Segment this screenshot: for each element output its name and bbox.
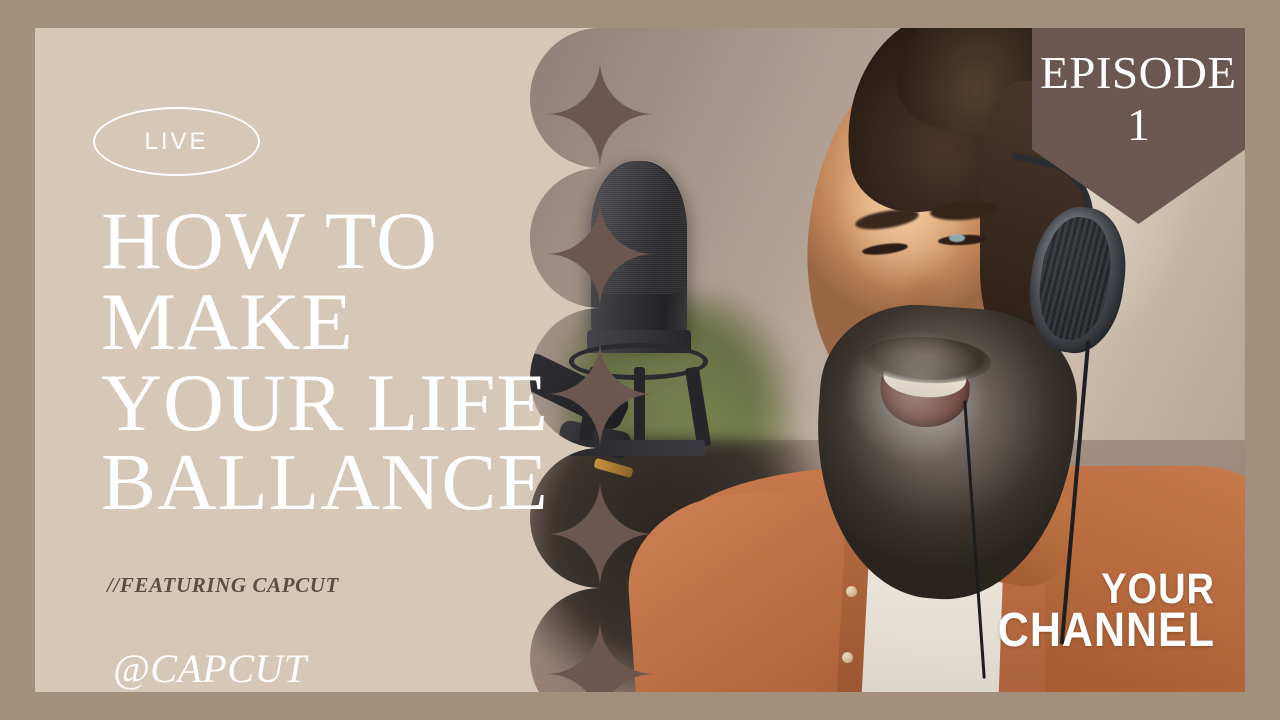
episode-label: EPISODE xyxy=(1040,50,1236,96)
shirt-button-lower xyxy=(842,652,853,663)
live-badge-label: LIVE xyxy=(144,128,208,156)
live-badge[interactable]: LIVE xyxy=(93,107,260,176)
title-line-1: HOW TO xyxy=(101,200,544,281)
artboard: LIVE HOW TO MAKE YOUR LIFE BALLANCE //FE… xyxy=(35,28,1245,692)
title-block: HOW TO MAKE YOUR LIFE BALLANCE xyxy=(101,200,531,523)
channel-line-2: CHANNEL xyxy=(998,607,1215,656)
thumbnail-canvas: LIVE HOW TO MAKE YOUR LIFE BALLANCE //FE… xyxy=(0,0,1280,720)
featuring-text: //FEATURING CAPCUT xyxy=(107,573,339,598)
title-line-4: BALLANCE xyxy=(101,444,544,523)
channel-block: YOUR CHANNEL xyxy=(998,573,1215,656)
shirt-button-upper xyxy=(846,586,857,597)
episode-number: 1 xyxy=(1127,100,1150,151)
title-line-2: MAKE xyxy=(101,281,544,362)
social-handle: @CAPCUT xyxy=(113,645,307,692)
title-line-3: YOUR LIFE xyxy=(101,362,544,443)
